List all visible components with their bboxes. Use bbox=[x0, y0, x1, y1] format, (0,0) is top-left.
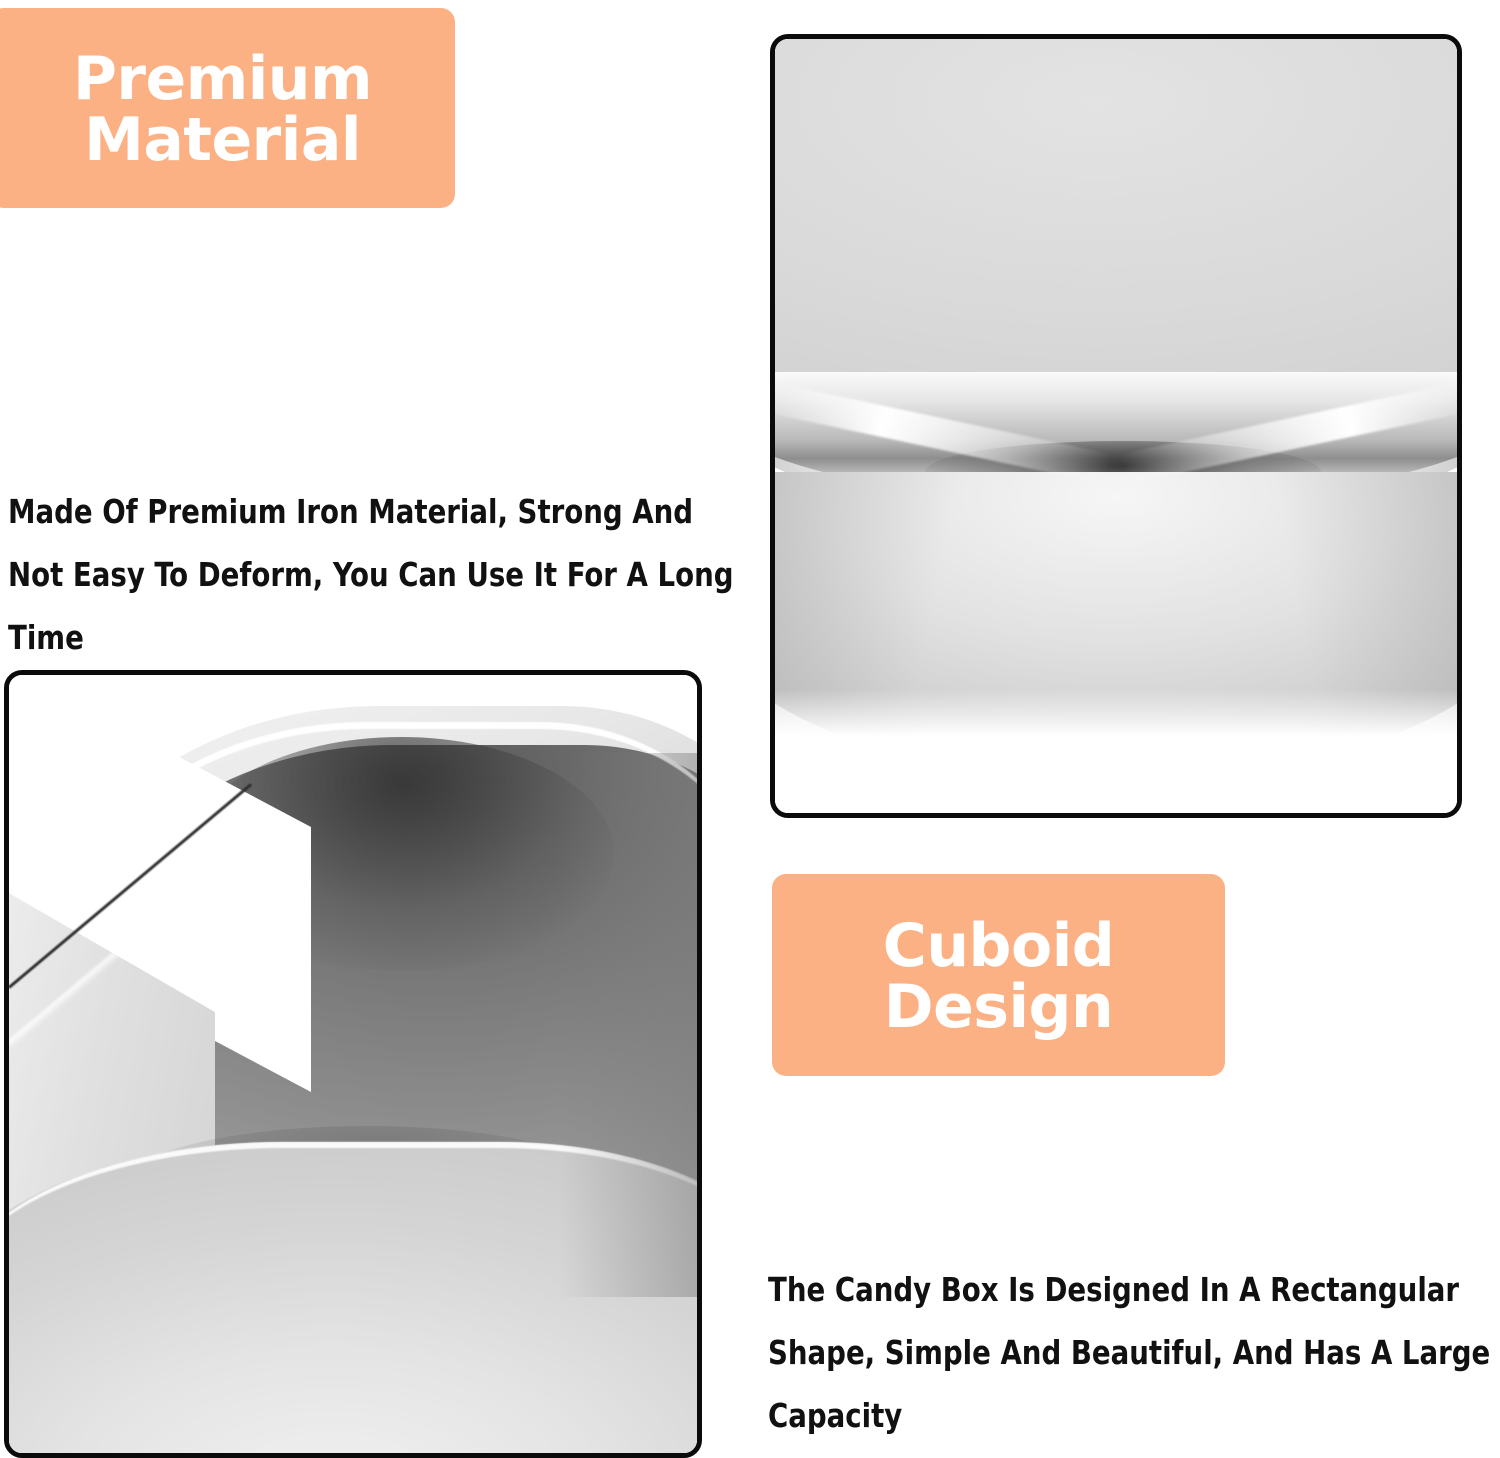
description-cuboid-design: The Candy Box Is Designed In A Rectangul… bbox=[768, 1258, 1500, 1447]
tin-box-inside-photo-inner bbox=[9, 675, 697, 1453]
tin-lid-corner-photo-inner bbox=[775, 39, 1457, 813]
box-right-shade bbox=[559, 753, 697, 1298]
infographic-canvas: Premium Material Made Of Premium Iron Ma… bbox=[0, 0, 1500, 1458]
tin-box-inside-photo bbox=[4, 670, 702, 1458]
badge-cuboid-design: Cuboid Design bbox=[772, 874, 1225, 1076]
tin-lid-corner-photo bbox=[770, 34, 1462, 818]
badge-premium-material-line1: Premium bbox=[73, 49, 372, 110]
photo-white-floor bbox=[775, 689, 1457, 813]
badge-premium-material: Premium Material bbox=[0, 8, 455, 208]
description-premium-material: Made Of Premium Iron Material, Strong An… bbox=[8, 480, 752, 669]
badge-premium-material-line2: Material bbox=[84, 110, 361, 171]
badge-cuboid-design-line2: Design bbox=[884, 977, 1113, 1038]
badge-cuboid-design-line1: Cuboid bbox=[883, 916, 1114, 977]
